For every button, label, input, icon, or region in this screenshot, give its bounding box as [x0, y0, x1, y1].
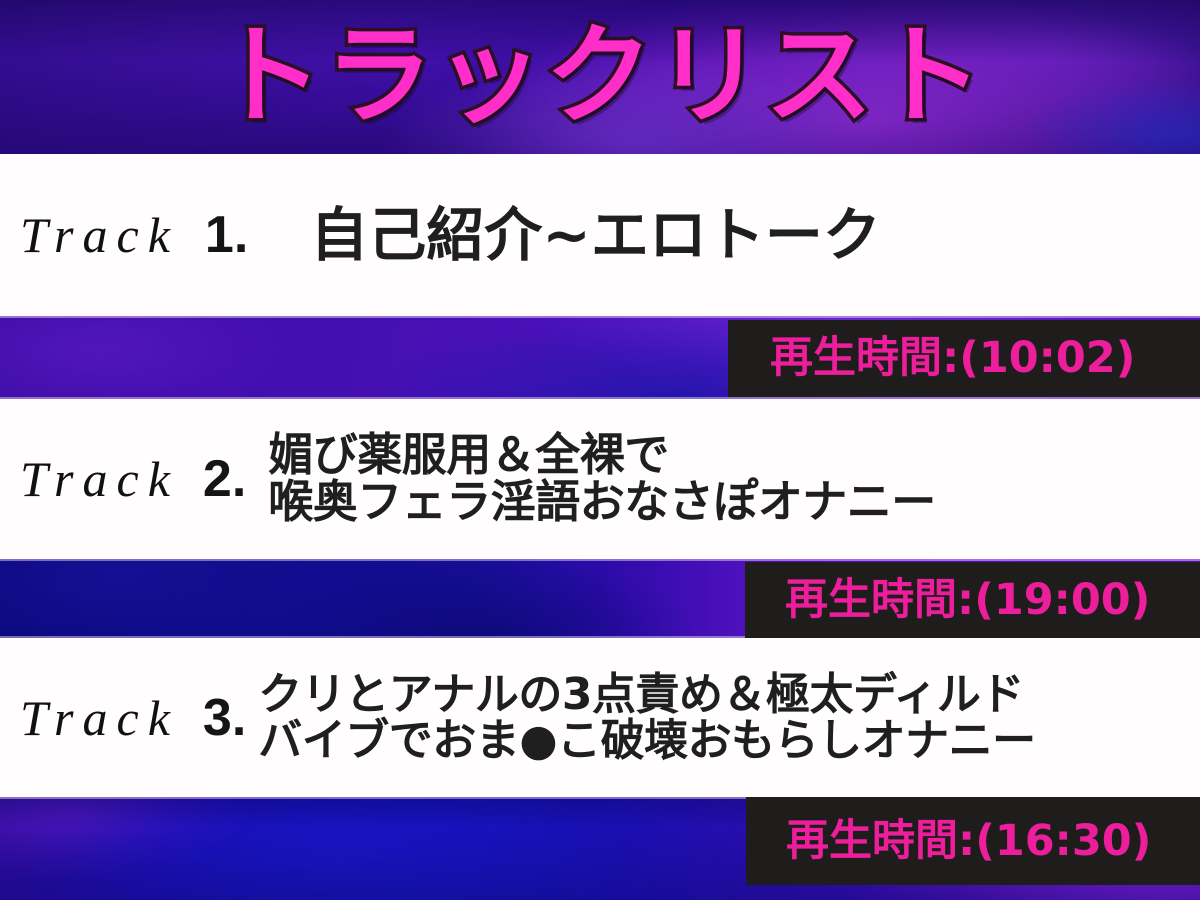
track-row: Track 2. 媚び薬服用＆全裸で 喉奥フェラ淫語おなさぽオナニー — [0, 399, 1200, 559]
track-title: 媚び薬服用＆全裸で 喉奥フェラ淫語おなさぽオナニー — [268, 432, 936, 526]
track-row: Track 1. 自己紹介~エロトーク — [0, 154, 1200, 316]
duration-text: 再生時間:(10:02) — [770, 337, 1135, 380]
track-label: Track — [20, 206, 179, 264]
track-title-line: クリとアナルの3点責め＆極太ディルド — [258, 672, 1035, 718]
track-title-line: バイブでおま●こ破壊おもらしオナニー — [258, 718, 1035, 764]
track-title-line: 喉奥フェラ淫語おなさぽオナニー — [268, 479, 936, 526]
track-row: Track 3. クリとアナルの3点責め＆極太ディルド バイブでおま●こ破壊おも… — [0, 638, 1200, 797]
band-edge-top — [0, 316, 1200, 318]
duration-chip: 再生時間:(19:00) — [745, 562, 1200, 638]
page-title: トラックリスト — [0, 0, 1200, 154]
duration-chip: 再生時間:(16:30) — [746, 797, 1200, 885]
duration-chip: 再生時間:(10:02) — [728, 320, 1200, 397]
track-number: 3. — [203, 688, 246, 748]
duration-text: 再生時間:(16:30) — [786, 820, 1151, 863]
track-title-line: 自己紹介~エロトーク — [310, 205, 881, 265]
duration-text: 再生時間:(19:00) — [785, 579, 1150, 622]
track-title-line: 媚び薬服用＆全裸で — [268, 432, 936, 479]
track-label: Track — [20, 450, 179, 508]
track-title: 自己紹介~エロトーク — [310, 205, 881, 265]
band-edge-top — [0, 559, 1200, 561]
track-number: 2. — [203, 449, 246, 509]
track-label: Track — [20, 689, 179, 747]
track-title: クリとアナルの3点責め＆極太ディルド バイブでおま●こ破壊おもらしオナニー — [258, 672, 1035, 764]
header-banner: トラックリスト — [0, 0, 1200, 154]
tracklist-page: トラックリスト Track 1. 自己紹介~エロトーク 再生時間:(10:02)… — [0, 0, 1200, 900]
track-number: 1. — [205, 205, 248, 265]
